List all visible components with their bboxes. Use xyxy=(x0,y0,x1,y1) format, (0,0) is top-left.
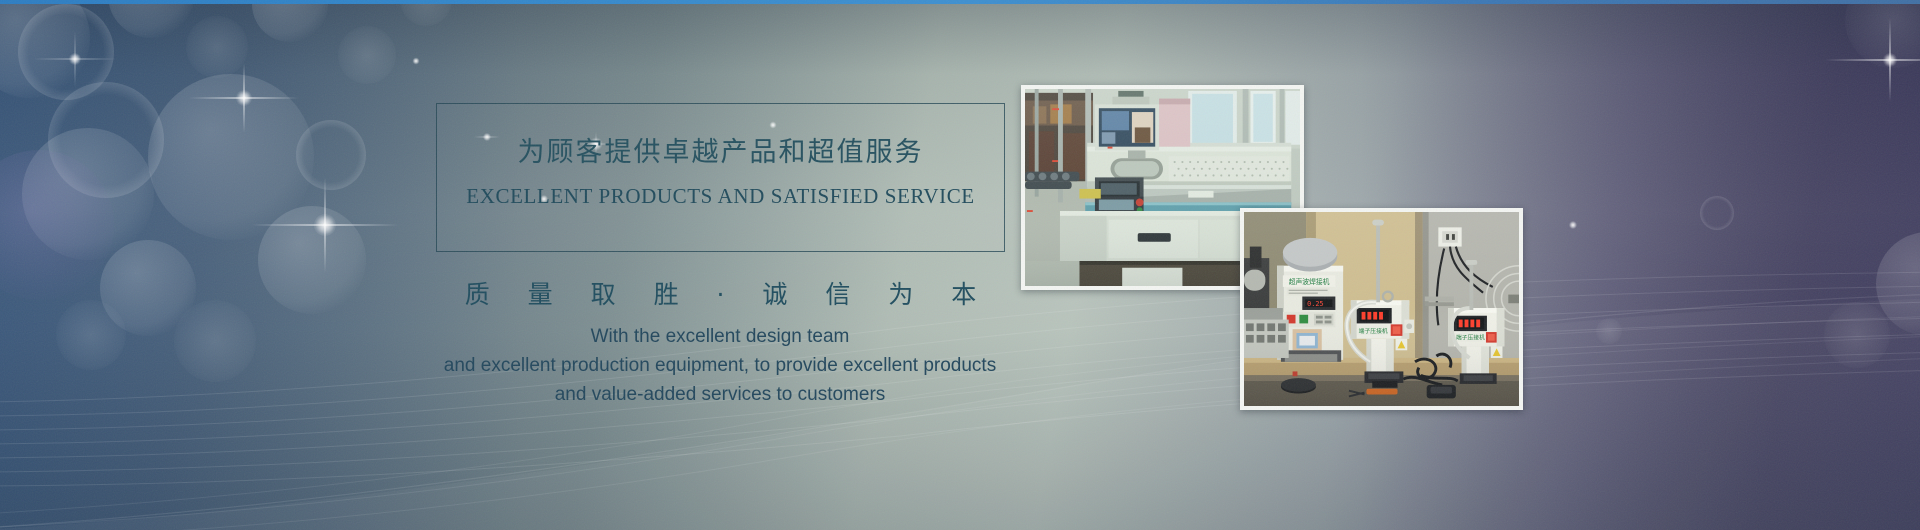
paragraph-line: and value-added services to customers xyxy=(330,380,1110,409)
text-content-zone: 为顾客提供卓越产品和超值服务 EXCELLENT PRODUCTS AND SA… xyxy=(0,0,1130,530)
sparkle-glint xyxy=(1560,212,1586,238)
subtitle-english: EXCELLENT PRODUCTS AND SATISFIED SERVICE xyxy=(437,184,1004,209)
sparkle-glint xyxy=(1820,0,1920,130)
slogan-chinese: 质 量 取 胜 · 诚 信 为 本 xyxy=(436,275,1005,311)
crimping-machines-photo: 超声波焊接机 0.25 xyxy=(1240,208,1523,410)
headline-box: 为顾客提供卓越产品和超值服务 EXCELLENT PRODUCTS AND SA… xyxy=(436,103,1005,252)
headline-chinese: 为顾客提供卓越产品和超值服务 xyxy=(437,130,1004,169)
paragraph-line: and excellent production equipment, to p… xyxy=(330,351,1110,380)
paragraph-line: With the excellent design team xyxy=(330,322,1110,351)
promo-banner: 为顾客提供卓越产品和超值服务 EXCELLENT PRODUCTS AND SA… xyxy=(0,0,1920,530)
crimping-machines-illustration: 超声波焊接机 0.25 xyxy=(1244,212,1519,406)
top-accent-stripe xyxy=(0,0,1920,4)
description-paragraph: With the excellent design team and excel… xyxy=(330,322,1110,409)
